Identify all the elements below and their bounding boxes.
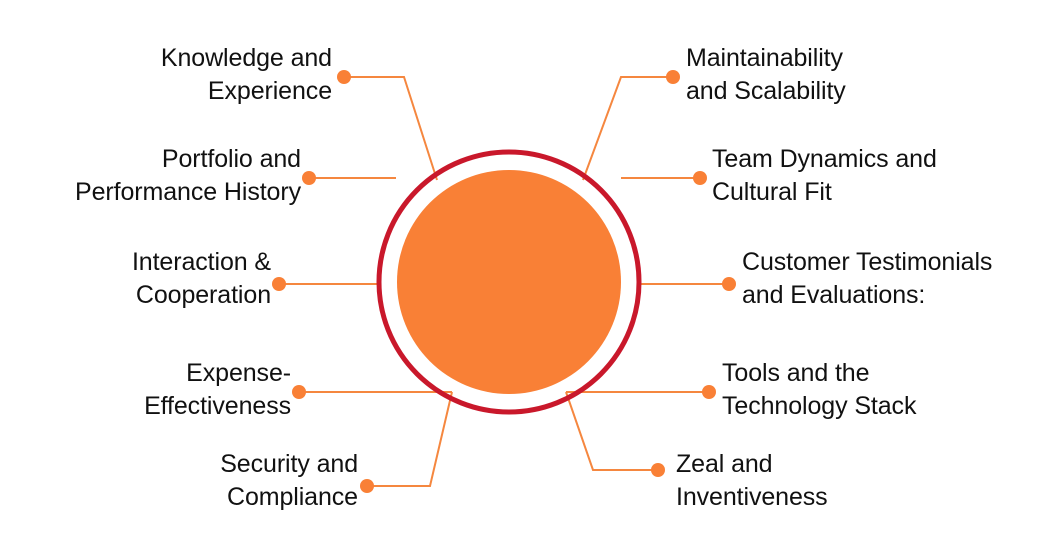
node-label-tools-and-the-technology-stack: Tools and the Technology Stack [722, 357, 1022, 423]
node-label-security-and-compliance: Security and Compliance [58, 448, 358, 514]
hub-layer [379, 152, 639, 412]
connector-dot-team-dynamics-and-cultural-fit[interactable] [693, 171, 707, 185]
connector-dot-maintainability-and-scalability[interactable] [666, 70, 680, 84]
connector-line-security-and-compliance [367, 392, 452, 486]
connector-line-maintainability-and-scalability [583, 77, 673, 180]
connector-dot-customer-testimonials-and-evaluations[interactable] [722, 277, 736, 291]
node-label-zeal-and-inventiveness: Zeal and Inventiveness [676, 448, 976, 514]
connector-line-zeal-and-inventiveness [566, 392, 658, 470]
connector-line-knowledge-and-experience [344, 77, 437, 180]
connector-dot-security-and-compliance[interactable] [360, 479, 374, 493]
node-label-expense-effectiveness: Expense- Effectiveness [0, 357, 291, 423]
connector-dot-zeal-and-inventiveness[interactable] [651, 463, 665, 477]
connector-dot-knowledge-and-experience[interactable] [337, 70, 351, 84]
connector-dot-interaction-and-cooperation[interactable] [272, 277, 286, 291]
diagram-canvas: Knowledge and ExperiencePortfolio and Pe… [0, 0, 1050, 550]
node-label-knowledge-and-experience: Knowledge and Experience [32, 42, 332, 108]
node-label-portfolio-and-performance-history: Portfolio and Performance History [0, 143, 301, 209]
connector-dot-expense-effectiveness[interactable] [292, 385, 306, 399]
connector-dot-portfolio-and-performance-history[interactable] [302, 171, 316, 185]
connector-dot-tools-and-the-technology-stack[interactable] [702, 385, 716, 399]
node-label-interaction-and-cooperation: Interaction & Cooperation [0, 246, 271, 312]
node-label-customer-testimonials-and-evaluations: Customer Testimonials and Evaluations: [742, 246, 1042, 312]
node-label-team-dynamics-and-cultural-fit: Team Dynamics and Cultural Fit [712, 143, 1042, 209]
node-label-maintainability-and-scalability: Maintainability and Scalability [686, 42, 1006, 108]
center-circle-fill [397, 170, 621, 394]
